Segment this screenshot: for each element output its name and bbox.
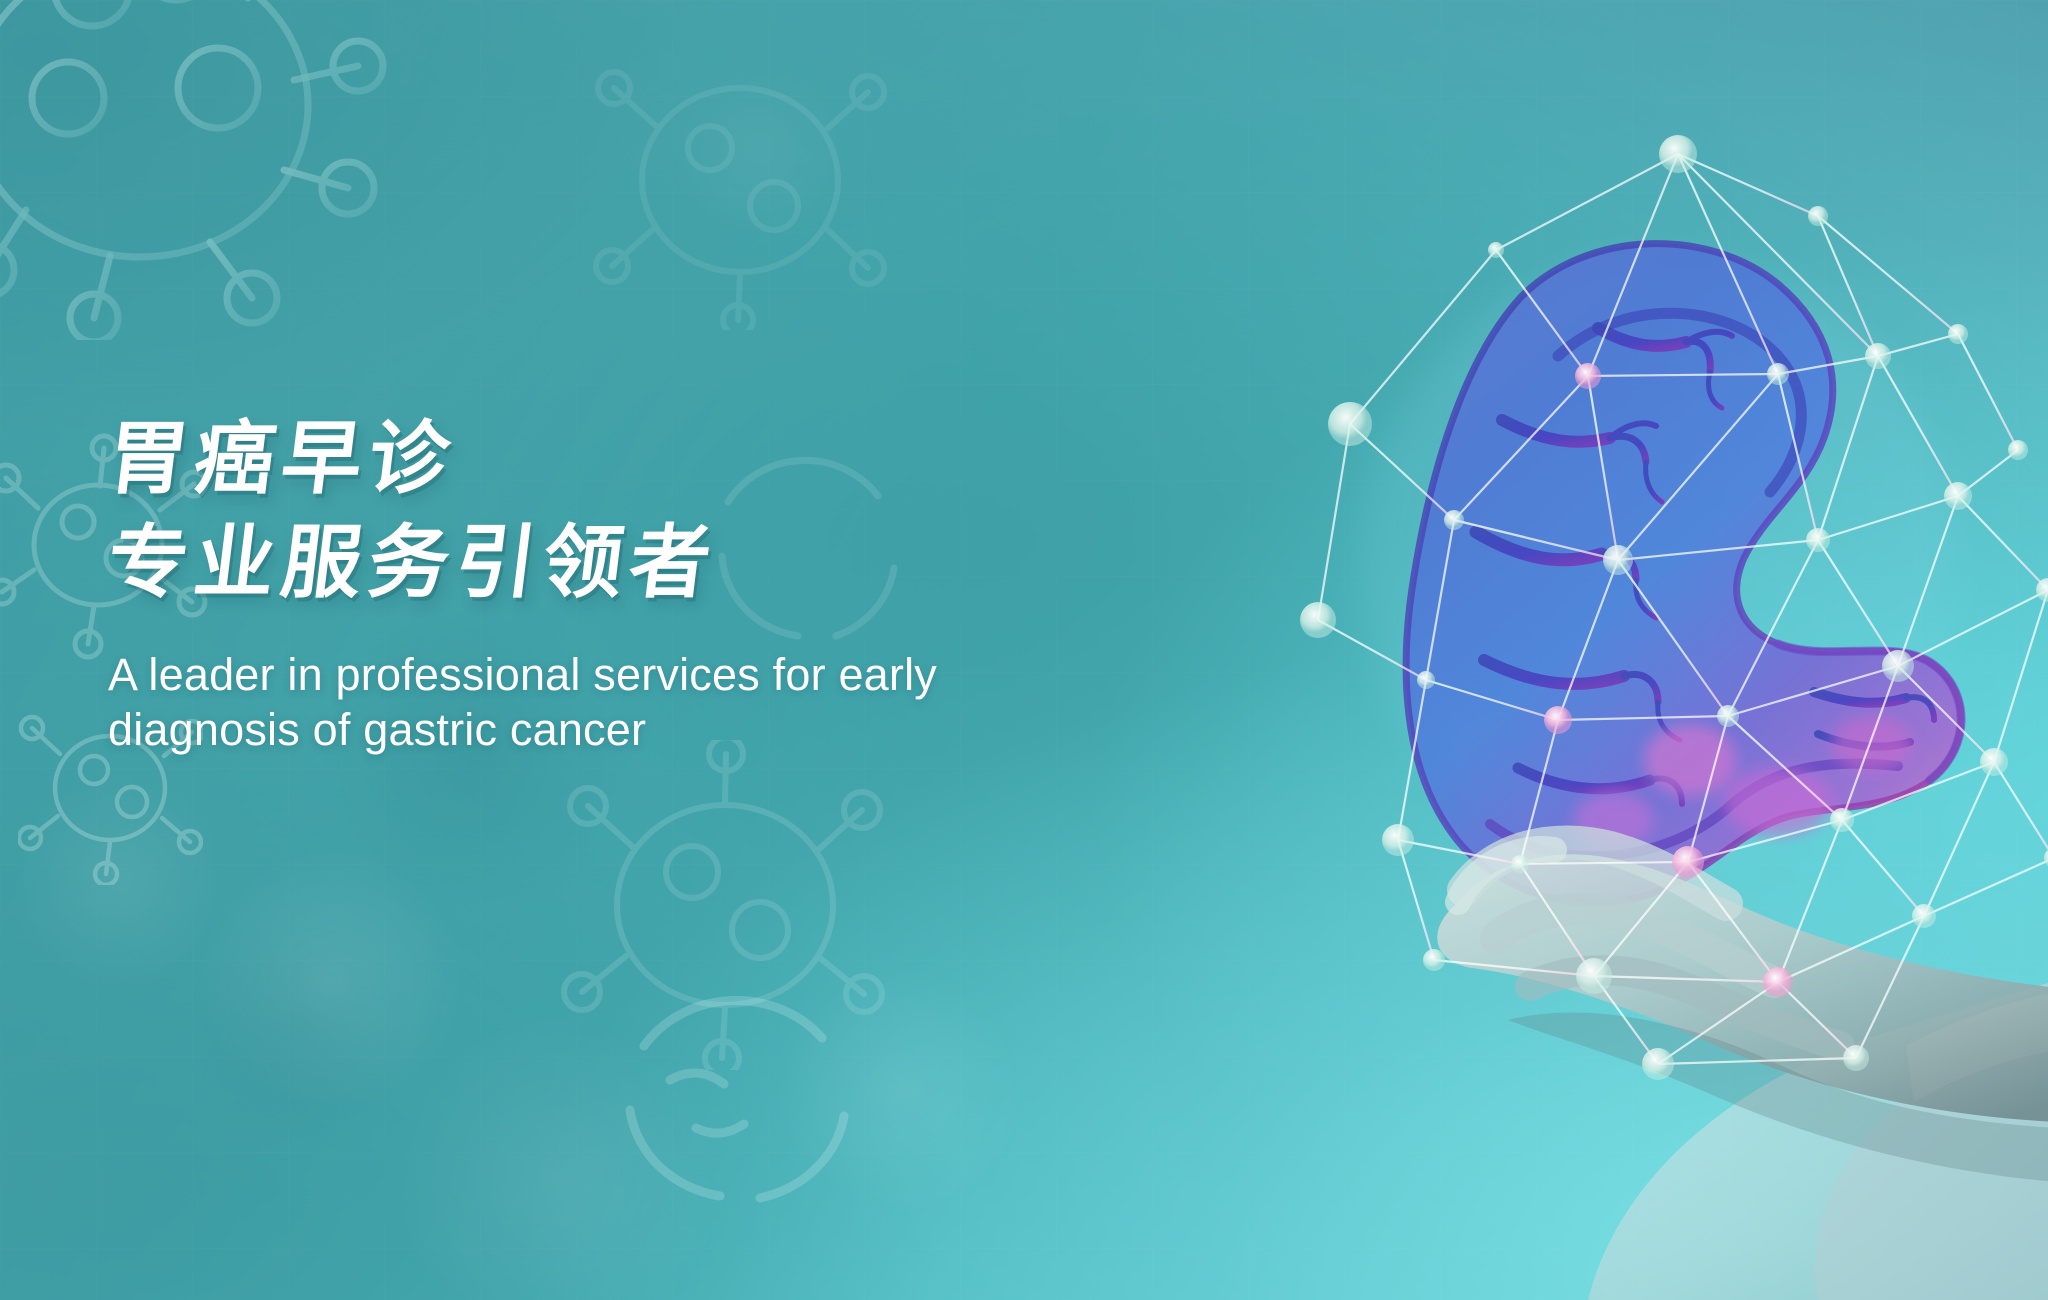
subtitle-line-1: A leader in professional services for ea… bbox=[108, 648, 1108, 703]
promotional-banner: 胃癌早诊 专业服务引领者 A leader in professional se… bbox=[0, 0, 2048, 1300]
hand-holding-stomach-illustration bbox=[1258, 120, 2048, 1300]
subtitle: A leader in professional services for ea… bbox=[108, 648, 1108, 758]
subtitle-line-2: diagnosis of gastric cancer bbox=[108, 703, 1108, 758]
headline-line-1: 胃癌早诊 bbox=[103, 418, 722, 500]
headline-line-2: 专业服务引领者 bbox=[103, 522, 722, 604]
headline: 胃癌早诊 专业服务引领者 bbox=[108, 418, 717, 603]
